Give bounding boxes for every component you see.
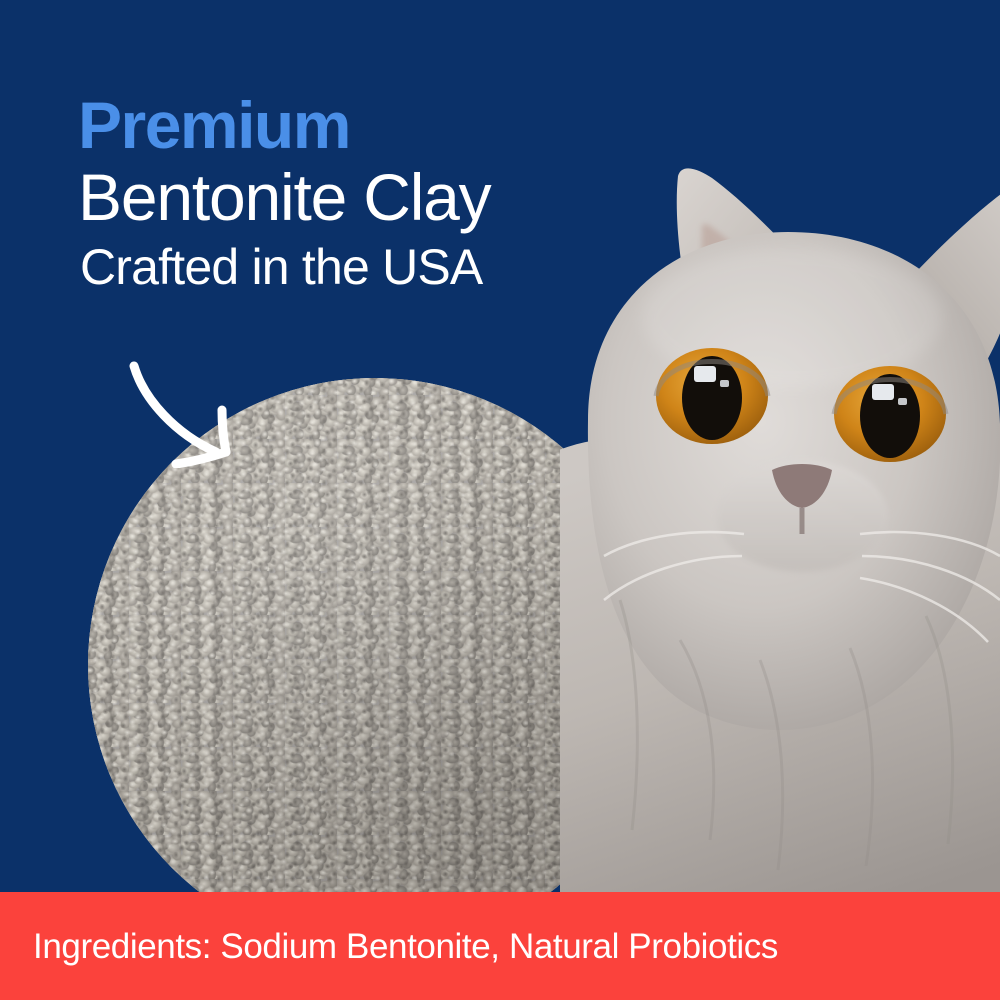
ingredients-banner: Ingredients: Sodium Bentonite, Natural P… bbox=[0, 892, 1000, 1000]
cat-right-eye bbox=[834, 366, 946, 462]
product-infographic: Premium Bentonite Clay Crafted in the US… bbox=[0, 0, 1000, 1000]
headline-block: Premium Bentonite Clay Crafted in the US… bbox=[78, 92, 638, 292]
curved-arrow-down-right-icon bbox=[118, 348, 248, 468]
ingredients-text: Ingredients: Sodium Bentonite, Natural P… bbox=[0, 929, 778, 964]
cat-left-eye bbox=[656, 348, 768, 444]
page-title: Bentonite Clay bbox=[78, 164, 638, 230]
headline-eyebrow: Premium bbox=[78, 92, 638, 158]
headline-subtitle: Crafted in the USA bbox=[78, 242, 638, 292]
